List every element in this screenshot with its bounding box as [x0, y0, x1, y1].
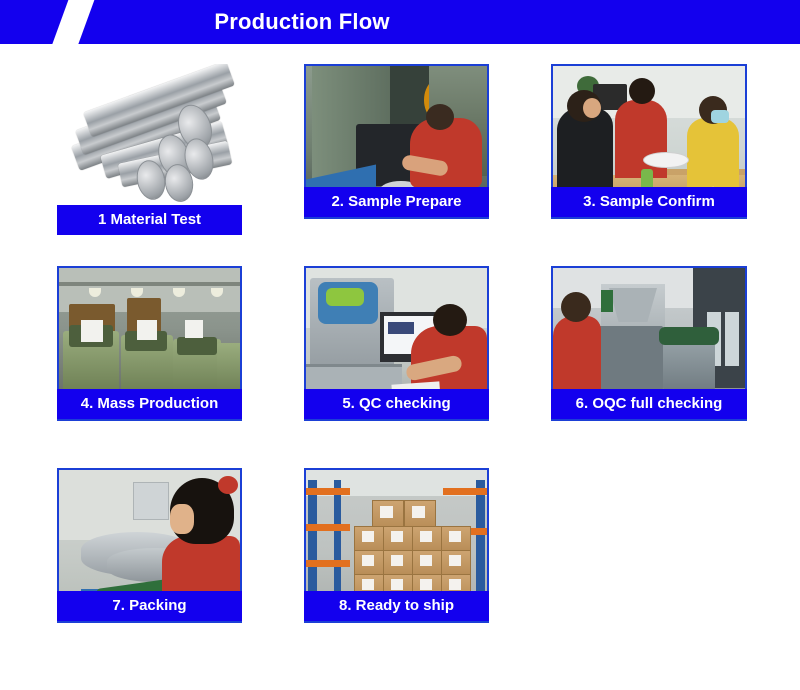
production-flow-grid: 1 Material Test 2. Sample Prepare — [0, 44, 800, 690]
step-label-4: 4. Mass Production — [57, 389, 242, 419]
step-card-1[interactable]: 1 Material Test — [57, 64, 242, 235]
step-card-3[interactable]: 3. Sample Confirm — [551, 64, 747, 217]
step-label-5: 5. QC checking — [304, 389, 489, 419]
step-card-7[interactable]: 7. Packing — [57, 468, 242, 621]
step-label-1: 1 Material Test — [57, 205, 242, 235]
step-label-6: 6. OQC full checking — [551, 389, 747, 419]
page-header: Production Flow — [0, 0, 800, 44]
page-title-text: Production Flow — [214, 9, 389, 35]
page-title: Production Flow — [0, 0, 800, 44]
step-label-3: 3. Sample Confirm — [551, 187, 747, 217]
step-label-7: 7. Packing — [57, 591, 242, 621]
step-card-6[interactable]: 6. OQC full checking — [551, 266, 747, 419]
step-card-8[interactable]: 8. Ready to ship — [304, 468, 489, 621]
steel-bars-photo — [57, 64, 242, 219]
step-label-8: 8. Ready to ship — [304, 591, 489, 621]
step-card-5[interactable]: 5. QC checking — [304, 266, 489, 419]
step-card-2[interactable]: 2. Sample Prepare — [304, 64, 489, 217]
step-card-4[interactable]: 4. Mass Production — [57, 266, 242, 419]
step-label-2: 2. Sample Prepare — [304, 187, 489, 217]
